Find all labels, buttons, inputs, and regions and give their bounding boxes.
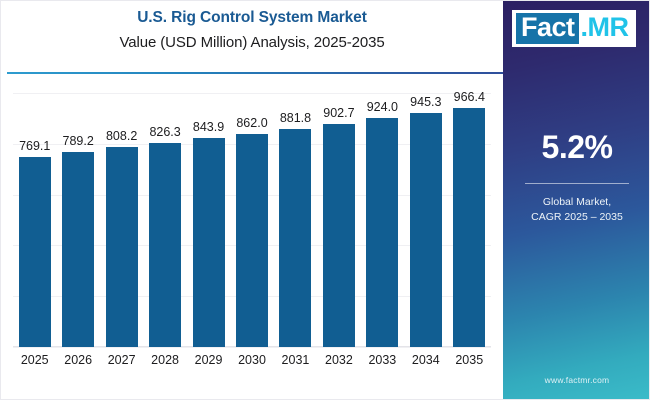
bar-group: 902.7 [318,81,360,347]
bar-group: 843.9 [188,81,230,347]
x-axis-tick-label: 2032 [316,353,362,367]
bar[interactable] [279,129,311,347]
bar-value-label: 826.3 [142,125,188,139]
bar-value-label: 881.8 [272,111,318,125]
bar-group: 789.2 [57,81,99,347]
cagr-caption-line-2: CAGR 2025 – 2035 [503,210,650,225]
chart-panel: U.S. Rig Control System Market Value (US… [1,1,503,400]
bar[interactable] [236,134,268,347]
cagr-caption-line-1: Global Market, [503,195,650,210]
bar-group: 808.2 [101,81,143,347]
infographic-root: U.S. Rig Control System Market Value (US… [0,0,650,400]
logo-mr-text: .MR [579,13,632,44]
bar-group: 769.1 [14,81,56,347]
header-divider [7,72,503,74]
bar-group: 945.3 [405,81,447,347]
x-axis-tick-label: 2029 [186,353,232,367]
brand-panel: Fact .MR 5.2% Global Market, CAGR 2025 –… [503,1,650,400]
bar[interactable] [149,143,181,347]
x-axis-tick-label: 2026 [55,353,101,367]
x-axis-tick-label: 2028 [142,353,188,367]
factmr-logo[interactable]: Fact .MR [512,10,636,47]
x-axis-labels: 2025202620272028202920302031203220332034… [13,353,491,377]
bar[interactable] [193,138,225,347]
page-title: U.S. Rig Control System Market [1,1,503,27]
logo-fact-text: Fact [516,13,579,44]
x-axis-tick-label: 2034 [403,353,449,367]
bar[interactable] [106,147,138,347]
bar-value-label: 789.2 [55,134,101,148]
gridline [13,347,491,348]
bar-group: 862.0 [231,81,273,347]
bar-value-label: 966.4 [446,90,492,104]
bar-value-label: 924.0 [359,100,405,114]
bar-value-label: 769.1 [12,139,58,153]
bar-series: 769.1789.2808.2826.3843.9862.0881.8902.7… [13,81,491,347]
bar-value-label: 808.2 [99,129,145,143]
x-axis-tick-label: 2031 [272,353,318,367]
x-axis-tick-label: 2027 [99,353,145,367]
bar-group: 966.4 [448,81,490,347]
bar[interactable] [323,124,355,347]
bar[interactable] [366,118,398,347]
cagr-divider [525,183,629,184]
x-axis-tick-label: 2035 [446,353,492,367]
bar[interactable] [19,157,51,347]
cagr-value: 5.2% [503,129,650,166]
chart-header: U.S. Rig Control System Market Value (US… [1,1,503,73]
bar-value-label: 862.0 [229,116,275,130]
site-url[interactable]: www.factmr.com [503,375,650,385]
x-axis-tick-label: 2025 [12,353,58,367]
bar-value-label: 843.9 [186,120,232,134]
bar-value-label: 945.3 [403,95,449,109]
chart-subtitle: Value (USD Million) Analysis, 2025-2035 [1,27,503,51]
bar[interactable] [453,108,485,347]
bar[interactable] [410,113,442,347]
bar-value-label: 902.7 [316,106,362,120]
bar-group: 826.3 [144,81,186,347]
x-axis-tick-label: 2033 [359,353,405,367]
bar-group: 881.8 [274,81,316,347]
bar-group: 924.0 [361,81,403,347]
bar[interactable] [62,152,94,347]
cagr-caption: Global Market, CAGR 2025 – 2035 [503,195,650,225]
x-axis-tick-label: 2030 [229,353,275,367]
